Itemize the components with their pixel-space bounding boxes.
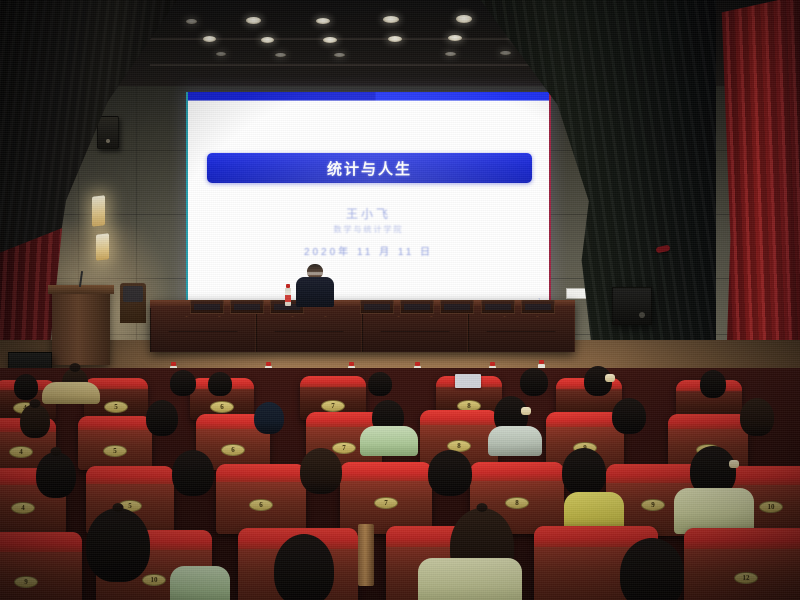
downlight [261, 37, 274, 43]
laptop [455, 374, 481, 388]
downlight [216, 52, 226, 56]
seat-number: 7 [374, 497, 398, 509]
seat[interactable]: 9 [0, 532, 82, 600]
audience-member [36, 452, 76, 498]
table-chair [190, 300, 224, 314]
seat[interactable]: 6 [216, 464, 306, 534]
audience-member [620, 538, 684, 600]
audience-member [170, 370, 196, 396]
wall-sconce [92, 195, 105, 227]
table-chair [521, 300, 555, 314]
downlight [186, 19, 197, 24]
audience-jacket [42, 382, 100, 404]
seat-number: 10 [759, 501, 783, 513]
seat-number: 9 [641, 499, 665, 511]
table-chair [440, 300, 474, 314]
downlight [456, 15, 472, 23]
aisle-post [358, 524, 374, 586]
seat-number: 10 [142, 574, 166, 586]
stage-side-chair [120, 283, 146, 323]
downlight [334, 53, 345, 57]
slide-surface: 统计与人生 王小飞 数学与统计学院 2020年 11 月 11 日 1 [188, 92, 549, 310]
seat-number: 7 [321, 400, 345, 412]
seat-number: 7 [332, 442, 356, 454]
podium [52, 285, 110, 365]
audience-member [274, 534, 334, 600]
seat-number: 4 [11, 502, 35, 514]
slide-presenter: 王小飞 [188, 205, 549, 222]
audience-member [20, 404, 50, 438]
downlight [388, 36, 402, 42]
downlight [323, 37, 337, 43]
audience-jacket [170, 566, 230, 600]
glasses-icon [307, 272, 323, 275]
audience-member [612, 398, 646, 434]
presenter [296, 264, 334, 306]
seat-number: 5 [103, 445, 127, 457]
projection-screen: 统计与人生 王小飞 数学与统计学院 2020年 11 月 11 日 1 [186, 92, 551, 310]
audience-seating: 4 5 6 7 8 4 5 [0, 368, 800, 600]
slide-topbar [188, 92, 549, 101]
seat[interactable]: 5 [78, 416, 152, 470]
table-chair [481, 300, 515, 314]
downlight [246, 17, 261, 24]
table-chair [400, 300, 434, 314]
wall-sconce [96, 233, 109, 261]
slide-title-band: 统计与人生 [207, 153, 532, 183]
slide-date: 2020年 11 月 11 日 [188, 243, 549, 258]
audience-jacket [418, 558, 522, 600]
downlight [383, 16, 399, 23]
table-chair [360, 300, 394, 314]
seat[interactable]: 12 [684, 528, 800, 600]
audience-jacket [488, 426, 542, 456]
presenter-body [296, 277, 334, 307]
seat-number: 5 [104, 401, 128, 413]
seat-number: 6 [210, 401, 234, 413]
downlight [203, 36, 216, 42]
water-bottle [285, 288, 291, 306]
seat-number: 12 [734, 572, 758, 584]
downlight [316, 18, 330, 24]
downlight [448, 35, 462, 41]
seat-number: 8 [505, 497, 529, 509]
table-chair [230, 300, 264, 314]
audience-member [428, 450, 472, 496]
podium-top [48, 285, 114, 294]
audience-member [300, 448, 342, 494]
seat[interactable]: 7 [340, 462, 432, 534]
audience-member [700, 370, 726, 398]
audience-member [146, 400, 178, 436]
floor-speaker [612, 287, 652, 325]
audience-jacket [360, 426, 418, 456]
screen-edge-right [549, 92, 551, 310]
audience-member [562, 448, 606, 496]
slide-title: 统计与人生 [327, 158, 412, 179]
seat-number: 4 [9, 446, 33, 458]
audience-member [520, 368, 548, 396]
audience-member [86, 508, 150, 582]
seat-number: 6 [249, 499, 273, 511]
slide-organization: 数学与统计学院 [188, 224, 549, 235]
audience-member [208, 372, 232, 396]
audience-member [368, 372, 392, 396]
downlight [445, 52, 456, 56]
slide-body: 统计与人生 王小飞 数学与统计学院 2020年 11 月 11 日 1 [188, 101, 549, 310]
audience-member [254, 402, 284, 434]
downlight [275, 53, 286, 57]
audience-member [584, 366, 612, 396]
seat-number: 6 [221, 444, 245, 456]
auditorium-photo: 统计与人生 王小飞 数学与统计学院 2020年 11 月 11 日 1 [0, 0, 800, 600]
audience-member [740, 398, 774, 436]
wall-speaker [97, 116, 119, 149]
downlight [500, 51, 511, 55]
audience-member [14, 374, 38, 400]
seat-number: 9 [14, 576, 38, 588]
audience-member [172, 450, 214, 496]
